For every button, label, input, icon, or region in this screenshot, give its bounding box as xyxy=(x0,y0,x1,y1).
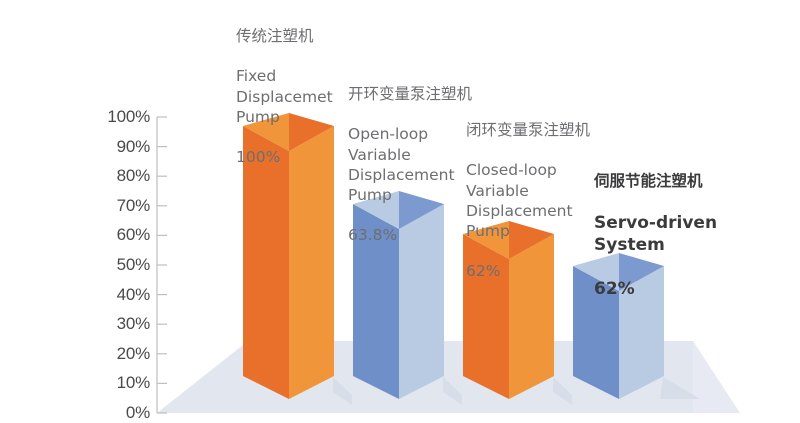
bar-callout-3-value: 62% xyxy=(466,261,590,281)
y-tick-label-20: 20% xyxy=(88,344,150,364)
bar-callout-1-name-cn: 传统注塑机 xyxy=(236,26,333,46)
bar-callout-2-value: 63.8% xyxy=(348,225,472,245)
bar-callout-2-name-en: Open-loop Variable Displacement Pump xyxy=(348,124,472,205)
y-tick-label-10: 10% xyxy=(88,373,150,393)
y-tick-label-30: 30% xyxy=(88,314,150,334)
bar-callout-1-value: 100% xyxy=(236,147,333,167)
y-tick-label-70: 70% xyxy=(88,196,150,216)
bar-callout-1: 传统注塑机 Fixed Displacemet Pump 100% xyxy=(236,6,333,187)
y-tick-label-0: 0% xyxy=(88,403,150,423)
y-tick-label-100: 100% xyxy=(88,107,150,127)
bar-callout-4-name-en: Servo-driven System xyxy=(594,213,717,257)
bar-callout-1-name-en: Fixed Displacemet Pump xyxy=(236,66,333,126)
bar-callout-3: 闭环变量泵注塑机 Closed-loop Variable Displaceme… xyxy=(466,100,590,301)
bar-callout-3-name-cn: 闭环变量泵注塑机 xyxy=(466,120,590,140)
chart-container: 100% 90% 80% 70% 60% 50% 40% 30% 20% 10%… xyxy=(0,0,800,421)
y-tick-label-50: 50% xyxy=(88,255,150,275)
bar-callout-4-value: 62% xyxy=(594,279,717,301)
y-tick-label-40: 40% xyxy=(88,285,150,305)
y-axis xyxy=(157,117,167,413)
y-tick-label-90: 90% xyxy=(88,137,150,157)
bar-callout-4-name-cn: 伺服节能注塑机 xyxy=(594,172,717,192)
bar-callout-3-name-en: Closed-loop Variable Displacement Pump xyxy=(466,160,590,241)
y-tick-label-80: 80% xyxy=(88,166,150,186)
bar-callout-2-name-cn: 开环变量泵注塑机 xyxy=(348,84,472,104)
bar-callout-4: 伺服节能注塑机 Servo-driven System 62% xyxy=(594,150,717,322)
bar-callout-2: 开环变量泵注塑机 Open-loop Variable Displacement… xyxy=(348,64,472,265)
y-tick-label-60: 60% xyxy=(88,225,150,245)
